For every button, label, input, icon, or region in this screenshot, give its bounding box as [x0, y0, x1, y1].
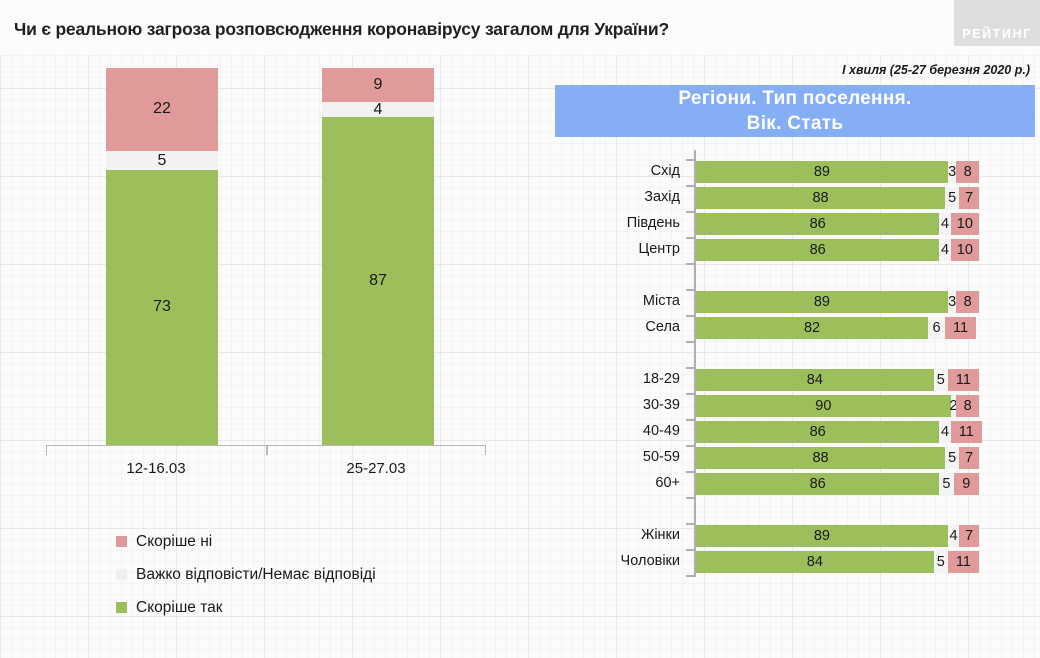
breakdown-bar-value: 11 — [956, 372, 971, 388]
breakdown-bar-value: 89 — [814, 164, 830, 180]
dynamics-bar-segment-neg: 22 — [106, 68, 218, 151]
dynamics-bar-segment-hard: 4 — [322, 102, 434, 117]
breakdown-bar-segment-hard: 3 — [948, 291, 956, 313]
breakdown-axis-tick — [686, 471, 694, 473]
breakdown-bar-segment-pos: 89 — [696, 291, 948, 313]
breakdown-row: Міста8938 — [530, 289, 1040, 315]
breakdown-bar-value: 90 — [815, 398, 831, 414]
breakdown-bar-segment-pos: 89 — [696, 525, 948, 547]
breakdown-row: Центр86410 — [530, 237, 1040, 263]
breakdown-row-label: 40-49 — [530, 423, 680, 439]
breakdown-row-bars: 8938 — [696, 161, 979, 183]
breakdown-row-bars: 84511 — [696, 369, 979, 391]
dynamics-bar-value: 22 — [153, 101, 171, 117]
breakdown-row-label: Захід — [530, 189, 680, 205]
breakdown-axis-tick — [686, 523, 694, 525]
breakdown-row-bars: 8947 — [696, 525, 979, 547]
breakdown-bar-segment-hard: 5 — [934, 369, 948, 391]
breakdown-bar-value: 84 — [807, 372, 823, 388]
legend-item: Важко відповісти/Немає відповіді — [116, 558, 376, 591]
breakdown-row-label: Жінки — [530, 527, 680, 543]
breakdown-row-bars: 86410 — [696, 239, 979, 261]
breakdown-bar-segment-hard: 6 — [928, 317, 945, 339]
breakdown-bar-value: 5 — [937, 554, 945, 570]
breakdown-axis-tick — [686, 419, 694, 421]
breakdown-row-label: 50-59 — [530, 449, 680, 465]
breakdown-bar-value: 8 — [964, 294, 972, 310]
breakdown-bar-value: 7 — [965, 450, 973, 466]
breakdown-bar-segment-hard: 5 — [945, 447, 959, 469]
breakdown-row-label: Схід — [530, 163, 680, 179]
breakdown-row-bars: 9028 — [696, 395, 979, 417]
breakdown-row: Чоловіки84511 — [530, 549, 1040, 575]
breakdown-bar-segment-hard: 4 — [939, 213, 950, 235]
breakdown-bar-value: 84 — [807, 554, 823, 570]
breakdown-axis-tick — [686, 211, 694, 213]
breakdown-bar-value: 86 — [810, 476, 826, 492]
breakdown-banner-line-1: Регіони. Тип поселення. — [678, 86, 911, 111]
breakdown-bar-segment-neg: 11 — [945, 317, 976, 339]
breakdown-bar-segment-neg: 10 — [951, 213, 979, 235]
breakdown-bar-value: 5 — [948, 450, 956, 466]
breakdown-bar-value: 8 — [964, 398, 972, 414]
breakdown-row-bars: 82611 — [696, 317, 976, 339]
breakdown-bar-segment-hard: 4 — [939, 239, 950, 261]
breakdown-axis-tick — [686, 185, 694, 187]
breakdown-bar-segment-hard: 5 — [934, 551, 948, 573]
dynamics-bar: 22573 — [106, 68, 218, 445]
breakdown-bar-segment-hard: 4 — [939, 421, 950, 443]
breakdown-row: Південь86410 — [530, 211, 1040, 237]
breakdown-bar-value: 5 — [948, 190, 956, 206]
breakdown-row: Жінки8947 — [530, 523, 1040, 549]
breakdown-row-bars: 8659 — [696, 473, 979, 495]
breakdown-row-label: Центр — [530, 241, 680, 257]
breakdown-group-spacer — [530, 497, 1040, 523]
dynamics-bar-value: 4 — [374, 102, 383, 118]
breakdown-bar-segment-neg: 9 — [954, 473, 979, 495]
breakdown-axis-end — [530, 575, 1040, 601]
dynamics-plot-area: 225739487 — [46, 68, 486, 445]
breakdown-bar-segment-neg: 10 — [951, 239, 979, 261]
breakdown-bar-value: 4 — [941, 242, 949, 258]
dynamics-x-axis-tick — [266, 446, 268, 455]
breakdown-row: Села82611 — [530, 315, 1040, 341]
breakdown-bar-value: 6 — [932, 320, 940, 336]
breakdown-axis-tick — [686, 445, 694, 447]
dynamics-bar-value: 87 — [369, 273, 387, 289]
breakdown-group-spacer — [530, 263, 1040, 289]
dynamics-bar-segment-pos: 73 — [106, 170, 218, 445]
breakdown-bar-value: 89 — [814, 294, 830, 310]
breakdown-bar-segment-hard: 4 — [948, 525, 959, 547]
breakdown-row-bars: 8857 — [696, 187, 979, 209]
breakdown-bar-segment-pos: 84 — [696, 551, 934, 573]
breakdown-bar-segment-hard: 3 — [948, 161, 956, 183]
breakdown-bar-segment-pos: 89 — [696, 161, 948, 183]
breakdown-axis-tick — [686, 341, 694, 343]
breakdown-bar-value: 4 — [949, 528, 957, 544]
breakdown-bar-segment-pos: 86 — [696, 421, 939, 443]
legend-item-label: Скоріше так — [136, 599, 223, 617]
breakdown-bar-segment-neg: 8 — [956, 161, 979, 183]
breakdown-row-bars: 86411 — [696, 421, 982, 443]
breakdown-bar-segment-neg: 8 — [956, 395, 979, 417]
breakdown-row-bars: 8857 — [696, 447, 979, 469]
breakdown-bar-value: 11 — [959, 424, 974, 440]
breakdown-bar-segment-pos: 86 — [696, 213, 939, 235]
breakdown-row: 18-2984511 — [530, 367, 1040, 393]
breakdown-bar-segment-neg: 8 — [956, 291, 979, 313]
breakdown-row: Захід8857 — [530, 185, 1040, 211]
breakdown-bar-value: 9 — [962, 476, 970, 492]
legend-item: Скоріше ні — [116, 525, 376, 558]
breakdown-row-bars: 86410 — [696, 213, 979, 235]
breakdown-row-label: 30-39 — [530, 397, 680, 413]
dynamics-chart: 225739487 12-16.03 25-27.03 Скоріше ні В… — [0, 60, 530, 658]
breakdown-row-bars: 8938 — [696, 291, 979, 313]
breakdown-bar-segment-pos: 86 — [696, 239, 939, 261]
breakdown-bar-value: 11 — [953, 320, 968, 336]
breakdown-bar-value: 88 — [812, 450, 828, 466]
breakdown-bar-value: 7 — [965, 190, 973, 206]
breakdown-row-label: Чоловіки — [530, 553, 680, 569]
breakdown-axis-tick — [686, 263, 694, 265]
breakdown-bar-value: 3 — [948, 294, 956, 310]
dynamics-category-label: 12-16.03 — [46, 460, 266, 477]
breakdown-row-label: Південь — [530, 215, 680, 231]
breakdown-banner-line-2: Вік. Стать — [747, 111, 844, 136]
breakdown-bar-value: 8 — [964, 164, 972, 180]
breakdown-bar-value: 4 — [941, 216, 949, 232]
breakdown-bar-value: 10 — [957, 242, 973, 258]
legend-item: Скоріше так — [116, 591, 376, 624]
breakdown-row-label: Міста — [530, 293, 680, 309]
breakdown-banner: Регіони. Тип поселення. Вік. Стать — [555, 85, 1035, 137]
breakdown-bar-segment-pos: 86 — [696, 473, 939, 495]
dynamics-x-axis — [46, 445, 486, 455]
breakdown-bar-segment-neg: 7 — [959, 187, 979, 209]
breakdown-bar-value: 5 — [937, 372, 945, 388]
dynamics-bar-value: 9 — [374, 77, 383, 93]
breakdown-group-spacer — [530, 341, 1040, 367]
breakdown-bar-segment-neg: 11 — [951, 421, 982, 443]
breakdown-row: 30-399028 — [530, 393, 1040, 419]
breakdown-axis-tick — [686, 549, 694, 551]
breakdown-bar-segment-neg: 11 — [948, 369, 979, 391]
breakdown-bar-value: 89 — [814, 528, 830, 544]
breakdown-axis-tick — [686, 497, 694, 499]
breakdown-axis-tick — [686, 159, 694, 161]
dynamics-category-label: 25-27.03 — [266, 460, 486, 477]
breakdown-bar-segment-pos: 90 — [696, 395, 951, 417]
legend-item-label: Скоріше ні — [136, 533, 212, 551]
breakdown-bar-segment-hard: 5 — [939, 473, 953, 495]
breakdown-row: 40-4986411 — [530, 419, 1040, 445]
dynamics-bar: 9487 — [322, 68, 434, 445]
chart-legend: Скоріше ні Важко відповісти/Немає відпов… — [116, 525, 376, 624]
legend-swatch-negative-icon — [116, 536, 127, 547]
breakdown-axis-tick — [686, 575, 694, 577]
breakdown-axis-tick — [686, 367, 694, 369]
breakdown-axis-tick — [686, 393, 694, 395]
breakdown-bar-segment-neg: 7 — [959, 447, 979, 469]
breakdown-bar-segment-pos: 82 — [696, 317, 928, 339]
breakdown-row-label: 60+ — [530, 475, 680, 491]
breakdown-panel: І хвиля (25-27 березня 2020 р.) Регіони.… — [530, 0, 1040, 658]
breakdown-bar-value: 5 — [942, 476, 950, 492]
dynamics-bar-value: 5 — [158, 153, 167, 169]
breakdown-bar-value: 7 — [965, 528, 973, 544]
breakdown-row: 50-598857 — [530, 445, 1040, 471]
breakdown-bar-value: 11 — [956, 554, 971, 570]
breakdown-axis-tick — [686, 289, 694, 291]
breakdown-bar-value: 3 — [948, 164, 956, 180]
breakdown-row-bars: 84511 — [696, 551, 979, 573]
breakdown-axis-tick — [686, 315, 694, 317]
breakdown-bar-value: 88 — [812, 190, 828, 206]
breakdown-row: 60+8659 — [530, 471, 1040, 497]
breakdown-bar-value: 82 — [804, 320, 820, 336]
legend-swatch-hard-icon — [116, 569, 127, 580]
breakdown-axis-tick — [686, 237, 694, 239]
breakdown-row-label: 18-29 — [530, 371, 680, 387]
dynamics-bar-segment-hard: 5 — [106, 151, 218, 170]
breakdown-bar-value: 10 — [957, 216, 973, 232]
dynamics-bar-value: 73 — [153, 299, 171, 315]
breakdown-bar-value: 86 — [810, 242, 826, 258]
breakdown-bar-segment-hard: 5 — [945, 187, 959, 209]
dynamics-bar-segment-neg: 9 — [322, 68, 434, 102]
breakdown-row-label: Села — [530, 319, 680, 335]
breakdown-bar-segment-pos: 88 — [696, 447, 945, 469]
breakdown-bar-segment-neg: 7 — [959, 525, 979, 547]
breakdown-bar-segment-pos: 88 — [696, 187, 945, 209]
legend-swatch-positive-icon — [116, 602, 127, 613]
breakdown-chart: Схід8938Захід8857Південь86410Центр86410М… — [530, 150, 1040, 658]
dynamics-bar-segment-pos: 87 — [322, 117, 434, 445]
wave-label: І хвиля (25-27 березня 2020 р.) — [842, 63, 1030, 77]
breakdown-bar-value: 86 — [810, 216, 826, 232]
breakdown-row: Схід8938 — [530, 159, 1040, 185]
breakdown-bar-value: 4 — [941, 424, 949, 440]
breakdown-bar-value: 86 — [810, 424, 826, 440]
breakdown-bar-segment-neg: 11 — [948, 551, 979, 573]
breakdown-bar-segment-pos: 84 — [696, 369, 934, 391]
legend-item-label: Важко відповісти/Немає відповіді — [136, 566, 376, 584]
